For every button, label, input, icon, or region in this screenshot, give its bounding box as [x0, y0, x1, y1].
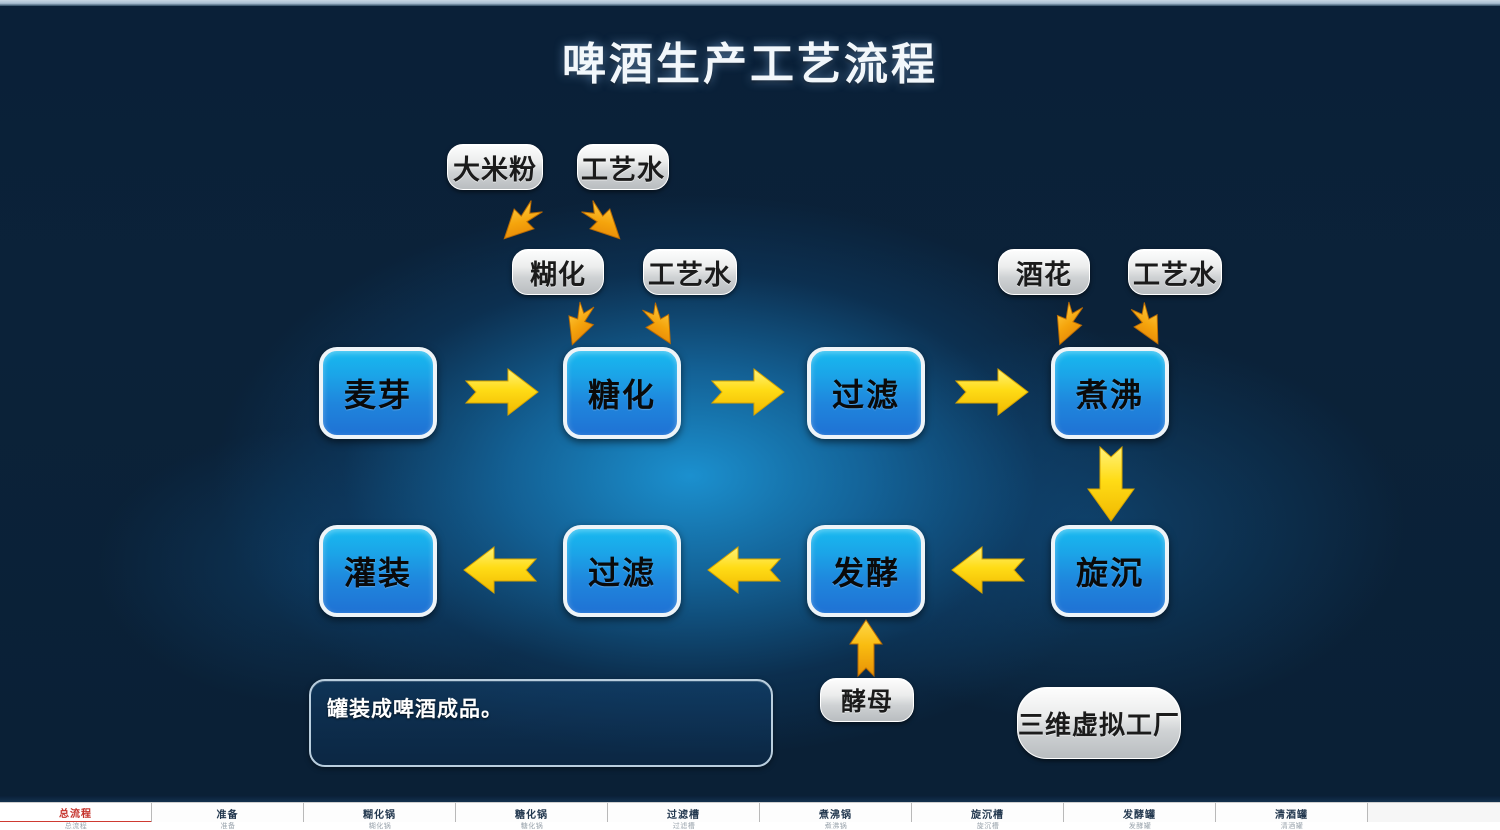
node-saccharification[interactable]: 糖化: [563, 347, 681, 439]
node-boiling[interactable]: 煮沸: [1051, 347, 1169, 439]
diagram-canvas: 啤酒生产工艺流程 大米粉 工艺水: [0, 6, 1500, 796]
tab-2[interactable]: 糊化锅: [304, 803, 456, 823]
tab-7[interactable]: 发酵罐: [1064, 803, 1216, 823]
input-hops[interactable]: 酒花: [998, 249, 1090, 295]
tab-label: 糖化锅: [515, 806, 548, 821]
status-cell: 准备: [152, 822, 304, 830]
tab-list: 总流程准备糊化锅糖化锅过滤槽煮沸锅旋沉槽发酵罐清酒罐: [0, 802, 1500, 823]
input-hops-label: 酒花: [1016, 253, 1072, 292]
tab-label: 旋沉槽: [971, 806, 1004, 821]
node-whirlpool[interactable]: 旋沉: [1051, 525, 1169, 617]
node-boiling-label: 煮沸: [1076, 370, 1144, 416]
arrow-whirlpool-to-fermentation: [948, 541, 1028, 599]
process-flow-screen: 啤酒生产工艺流程 大米粉 工艺水: [0, 0, 1500, 830]
input-process-water-1[interactable]: 工艺水: [577, 144, 669, 190]
node-malt[interactable]: 麦芽: [319, 347, 437, 439]
status-cell: 清酒罐: [1216, 822, 1368, 830]
virtual-factory-button[interactable]: 三维虚拟工厂: [1017, 687, 1181, 759]
tab-0[interactable]: 总流程: [0, 803, 152, 823]
tabbar-filler: [1368, 803, 1500, 823]
tab-label: 煮沸锅: [819, 806, 852, 821]
status-cell: 发酵罐: [1064, 822, 1216, 830]
arrow-malt-to-saccharification: [462, 363, 542, 421]
tab-8[interactable]: 清酒罐: [1216, 803, 1368, 823]
input-gelatinization[interactable]: 糊化: [512, 249, 604, 295]
node-fermentation-label: 发酵: [832, 548, 900, 594]
tab-label: 过滤槽: [667, 806, 700, 821]
input-rice-flour-label: 大米粉: [453, 148, 537, 187]
tab-4[interactable]: 过滤槽: [608, 803, 760, 823]
tab-label: 清酒罐: [1275, 806, 1308, 821]
node-filling[interactable]: 灌装: [319, 525, 437, 617]
input-process-water-3-label: 工艺水: [1133, 253, 1217, 292]
tab-1[interactable]: 准备: [152, 803, 304, 823]
input-process-water-2-label: 工艺水: [648, 253, 732, 292]
tab-label: 总流程: [59, 805, 92, 820]
node-filling-label: 灌装: [344, 548, 412, 594]
arrow-yeast-to-fermentation: [847, 618, 885, 680]
node-filtration-2-label: 过滤: [588, 548, 656, 594]
input-yeast[interactable]: 酵母: [820, 678, 914, 722]
node-saccharification-label: 糖化: [588, 370, 656, 416]
node-malt-label: 麦芽: [344, 370, 412, 416]
arrow-water1-to-gelatinization: [577, 196, 637, 256]
status-cell: 过滤槽: [608, 822, 760, 830]
tab-label: 准备: [217, 806, 239, 821]
input-gelatinization-label: 糊化: [530, 253, 586, 292]
tab-6[interactable]: 旋沉槽: [912, 803, 1064, 823]
tab-label: 糊化锅: [363, 806, 396, 821]
page-title: 啤酒生产工艺流程: [0, 28, 1500, 92]
node-filtration-1-label: 过滤: [832, 370, 900, 416]
input-rice-flour[interactable]: 大米粉: [447, 144, 543, 190]
tab-5[interactable]: 煮沸锅: [760, 803, 912, 823]
node-filtration-2[interactable]: 过滤: [563, 525, 681, 617]
note-text: 罐装成啤酒成品。: [327, 697, 503, 721]
tab-3[interactable]: 糖化锅: [456, 803, 608, 823]
input-yeast-label: 酵母: [841, 682, 893, 718]
note-box: 罐装成啤酒成品。: [309, 679, 773, 767]
arrow-fermentation-to-filtration2: [704, 541, 784, 599]
bottom-tabbar: 总流程准备糊化锅糖化锅过滤槽煮沸锅旋沉槽发酵罐清酒罐 总流程准备糊化锅糖化锅过滤…: [0, 796, 1500, 830]
arrow-rice-to-gelatinization: [487, 196, 547, 256]
node-filtration-1[interactable]: 过滤: [807, 347, 925, 439]
node-whirlpool-label: 旋沉: [1076, 548, 1144, 594]
arrow-boiling-to-whirlpool: [1082, 443, 1140, 525]
input-process-water-3[interactable]: 工艺水: [1128, 249, 1222, 295]
status-cell: 糊化锅: [304, 822, 456, 830]
virtual-factory-label: 三维虚拟工厂: [1018, 705, 1180, 742]
status-cell: 煮沸锅: [760, 822, 912, 830]
node-fermentation[interactable]: 发酵: [807, 525, 925, 617]
status-cell: 糖化锅: [456, 822, 608, 830]
arrow-filtration2-to-filling: [460, 541, 540, 599]
status-cell: 旋沉槽: [912, 822, 1064, 830]
tab-label: 发酵罐: [1123, 806, 1156, 821]
input-process-water-1-label: 工艺水: [581, 148, 665, 187]
arrow-saccharification-to-filtration1: [708, 363, 788, 421]
status-cell: 总流程: [0, 822, 152, 830]
arrow-filtration1-to-boiling: [952, 363, 1032, 421]
input-process-water-2[interactable]: 工艺水: [643, 249, 737, 295]
status-line: 总流程准备糊化锅糖化锅过滤槽煮沸锅旋沉槽发酵罐清酒罐: [0, 822, 1500, 830]
